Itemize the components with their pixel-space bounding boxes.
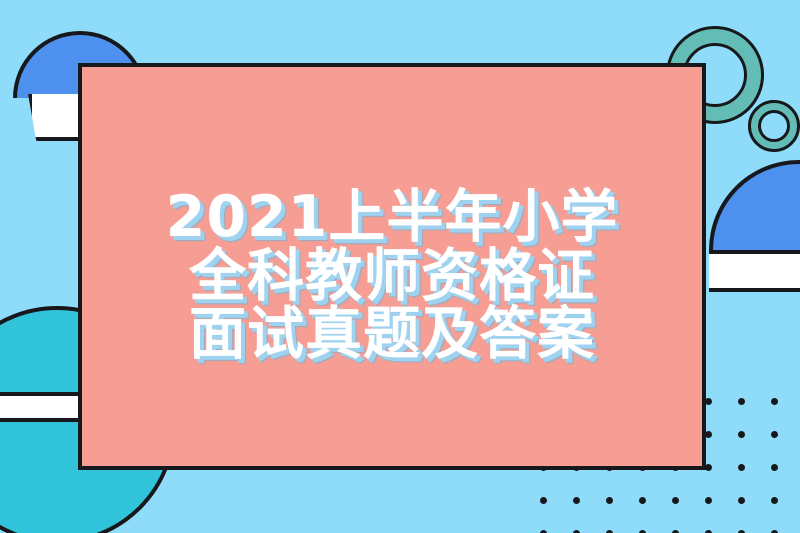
dot-grid-dot [738, 497, 745, 504]
title-line-1: 2021上半年小学 [166, 190, 619, 246]
dot-grid-dot [738, 464, 745, 471]
dot-grid-dot [738, 398, 745, 405]
dot-grid-dot [672, 497, 679, 504]
dot-grid-dot [705, 431, 712, 438]
dot-grid-dot [705, 464, 712, 471]
title-line-3: 面试真题及答案 [166, 307, 619, 363]
dot-grid-dot [771, 431, 778, 438]
title-card: 2021上半年小学 全科教师资格证 面试真题及答案 [78, 63, 706, 470]
title-line-2: 全科教师资格证 [166, 249, 619, 305]
dot-grid-dot [771, 497, 778, 504]
dot-grid-dot [573, 497, 580, 504]
page-title: 2021上半年小学 全科教师资格证 面试真题及答案 [166, 190, 619, 364]
dot-grid-dot [705, 497, 712, 504]
dot-grid-dot [639, 497, 646, 504]
dot-grid-dot [606, 497, 613, 504]
white-band-right [709, 250, 800, 292]
dot-grid-dot [771, 464, 778, 471]
dot-grid-dot [738, 431, 745, 438]
teal-ring-small-inner-edge [758, 110, 790, 142]
dot-grid-dot [771, 398, 778, 405]
dot-grid-dot [705, 398, 712, 405]
dot-grid-dot [540, 497, 547, 504]
blue-dome-right [709, 160, 800, 252]
poster-canvas: 2021上半年小学 全科教师资格证 面试真题及答案 [0, 0, 800, 533]
